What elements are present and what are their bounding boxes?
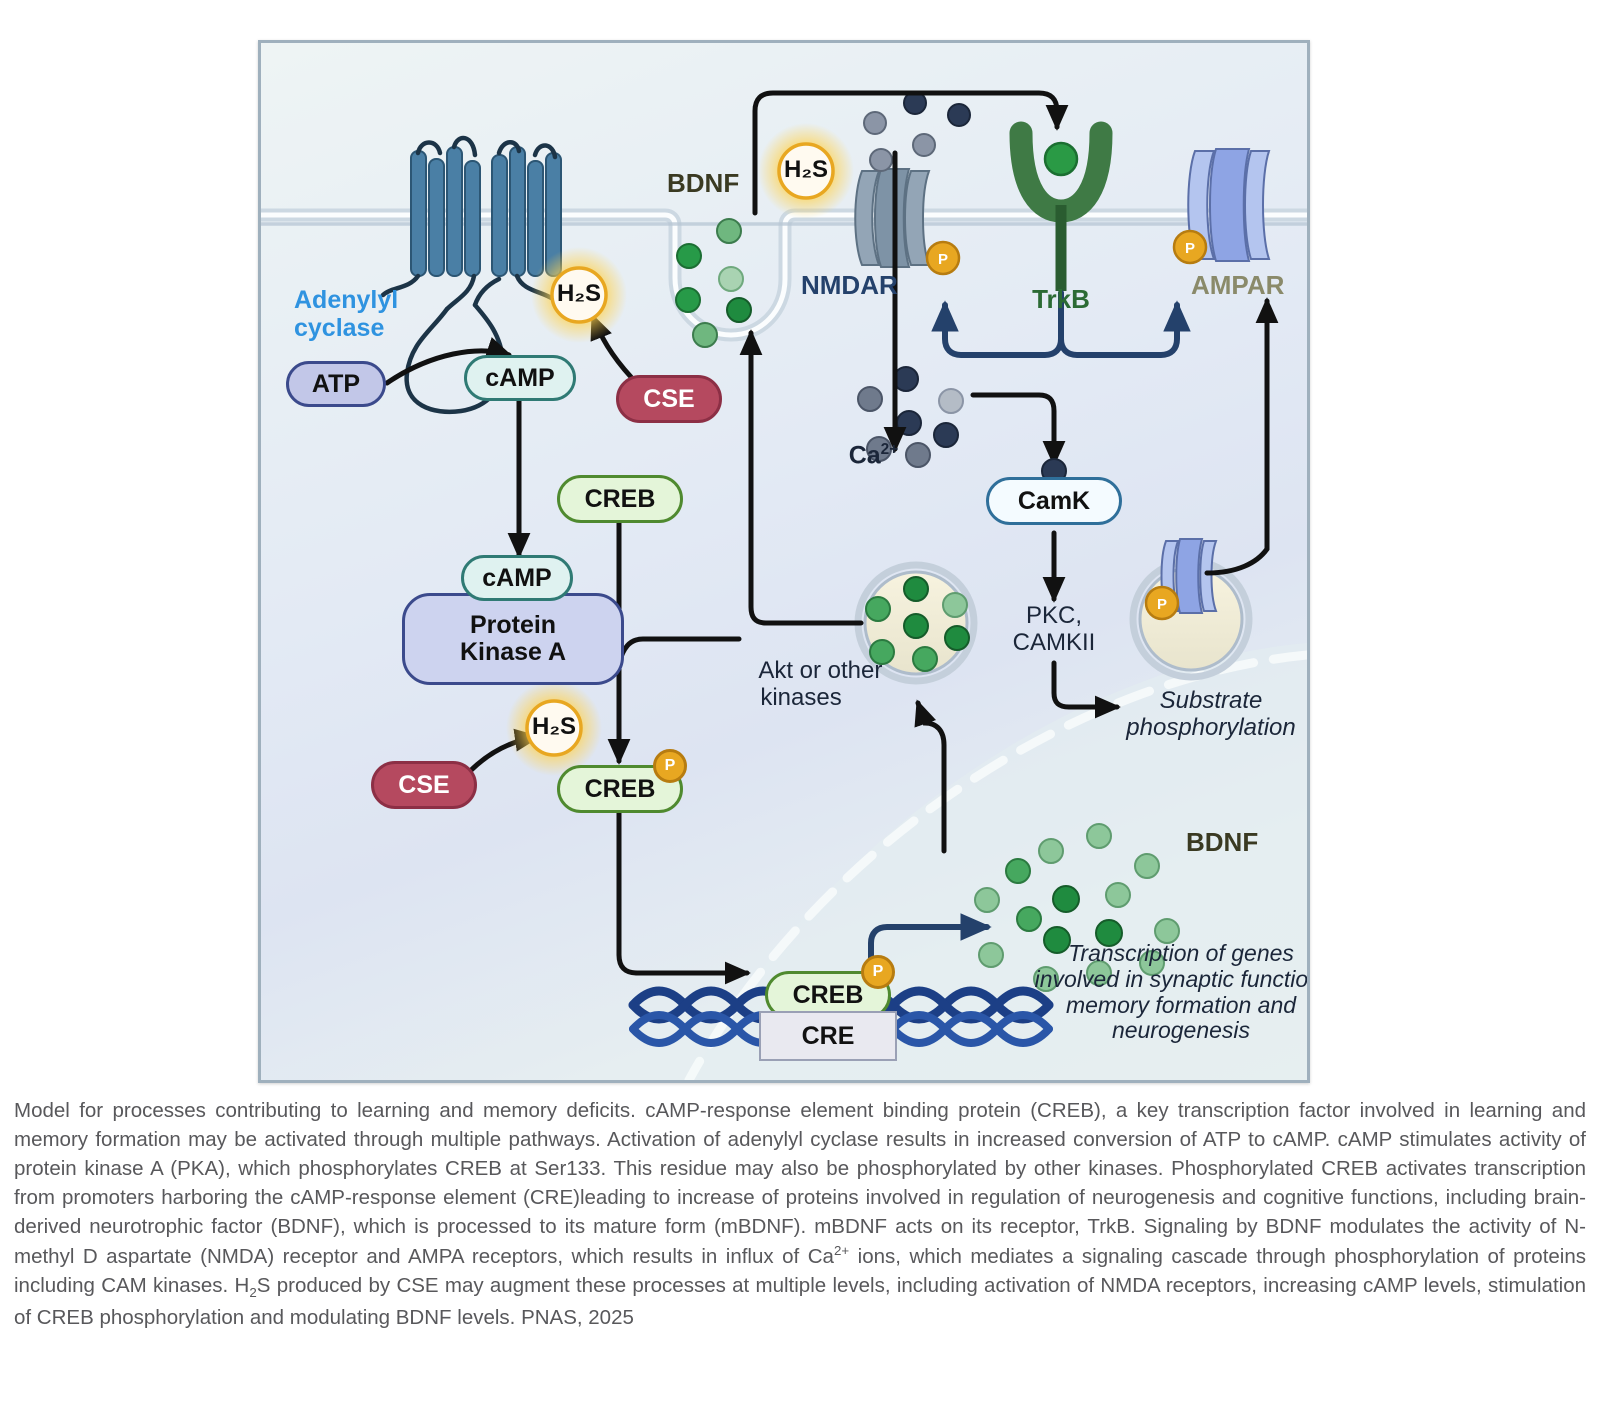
akt-or-other-kinases-label: Akt or other kinases xyxy=(720,631,883,739)
creb-phospho-label: CREB xyxy=(585,776,656,803)
phosphate-label: P xyxy=(873,963,884,980)
cse-bottom-node: CSE xyxy=(371,761,477,809)
ampar-label: AMPAR xyxy=(1191,271,1284,300)
trkb-label: TrkB xyxy=(1032,285,1090,314)
h2s-left-label: H₂S xyxy=(557,281,601,308)
screenshot-root: P P xyxy=(0,0,1600,1405)
atp-label: ATP xyxy=(312,371,360,398)
h2s-top-label: H₂S xyxy=(784,157,828,184)
substrate-vesicle: P xyxy=(1133,539,1249,677)
phosphate-badge-creb-dna: P xyxy=(861,955,895,989)
creb-free-node: CREB xyxy=(557,475,683,523)
camp-bound-label: cAMP xyxy=(482,565,551,592)
cse-top-label: CSE xyxy=(643,386,694,413)
camk-label: CamK xyxy=(1018,488,1090,515)
cre-node: CRE xyxy=(759,1011,897,1061)
svg-text:P: P xyxy=(1157,596,1167,613)
pathway-figure: P P xyxy=(258,40,1310,1083)
substrate-phosphorylation-label: Substrate phosphorylation xyxy=(1126,688,1295,742)
transcription-label: Transcription of genes involved in synap… xyxy=(1035,941,1310,1044)
bdnf-nucleus-label: BDNF xyxy=(1186,828,1258,857)
figure-caption: Model for processes contributing to lear… xyxy=(14,1096,1586,1332)
svg-text:P: P xyxy=(1185,240,1195,257)
camp-node: cAMP xyxy=(464,355,576,401)
camp-label: cAMP xyxy=(485,365,554,392)
h2s-bottom-label: H₂S xyxy=(532,714,576,741)
pkc-camkii-label: PKC, CAMKII xyxy=(1013,603,1096,657)
calcium-text: Ca xyxy=(849,441,881,469)
camp-bound-node: cAMP xyxy=(461,555,573,601)
calcium-dots-extracellular xyxy=(864,92,970,171)
ampar-receptor: P xyxy=(1174,149,1269,263)
pka-label: Protein Kinase A xyxy=(460,612,566,666)
calcium-charge: 2+ xyxy=(881,441,899,458)
calcium-label: Ca2+ xyxy=(807,413,898,497)
akt-plain: Akt xyxy=(758,657,799,684)
camk-node: CamK xyxy=(986,477,1122,525)
nmdar-label: NMDAR xyxy=(801,271,898,300)
phosphate-label: P xyxy=(665,757,676,774)
svg-text:P: P xyxy=(938,251,948,268)
creb-dna-label: CREB xyxy=(793,982,864,1009)
adenylyl-cyclase-label: Adenylyl cyclase xyxy=(294,286,398,342)
pka-node: Protein Kinase A xyxy=(402,593,624,685)
creb-free-label: CREB xyxy=(585,486,656,513)
pathway-svg: P P xyxy=(261,43,1307,1080)
cse-bottom-label: CSE xyxy=(398,772,449,799)
cre-label: CRE xyxy=(802,1023,855,1050)
phosphate-badge-creb-phospho: P xyxy=(653,749,687,783)
bdnf-synapse-label: BDNF xyxy=(667,169,739,198)
cse-top-node: CSE xyxy=(616,375,722,423)
atp-node: ATP xyxy=(286,361,386,407)
